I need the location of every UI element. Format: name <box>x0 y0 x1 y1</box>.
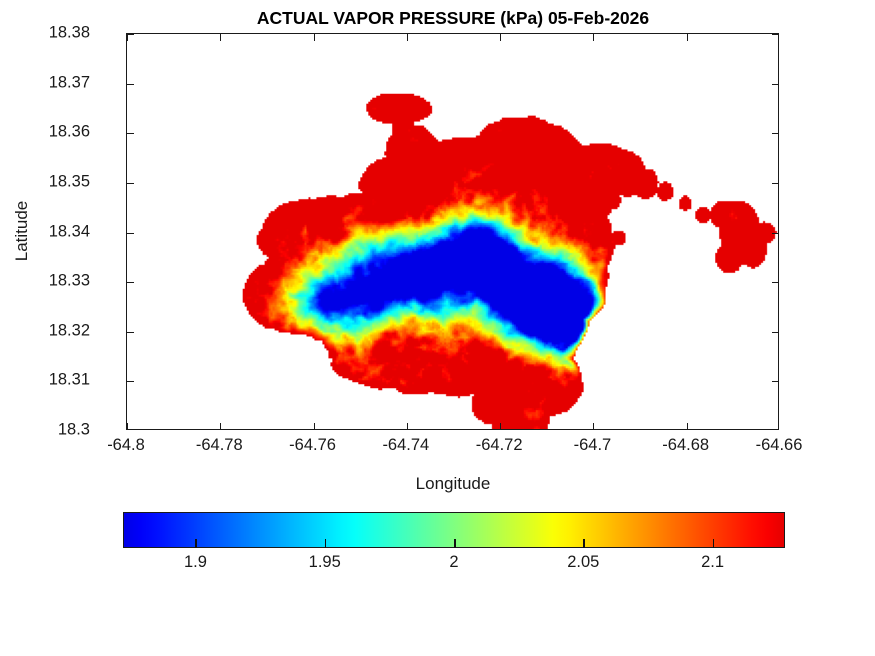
colorbar-tick-mark <box>583 539 585 548</box>
x-tick-mark <box>593 423 594 430</box>
y-tick-label: 18.32 <box>0 321 90 340</box>
y-tick-mark <box>127 183 134 184</box>
vapor-pressure-heatmap <box>127 34 778 429</box>
page-title: ACTUAL VAPOR PRESSURE (kPa) 05-Feb-2026 <box>126 8 780 29</box>
y-tick-mark <box>127 133 134 134</box>
y-tick-label: 18.37 <box>0 73 90 92</box>
colorbar-tick-mark <box>713 539 715 548</box>
colorbar-tick-mark <box>195 539 197 548</box>
y-tick-label: 18.36 <box>0 123 90 142</box>
y-tick-mark-right <box>772 133 779 134</box>
y-tick-mark-right <box>772 332 779 333</box>
y-tick-mark <box>127 233 134 234</box>
x-tick-mark <box>220 423 221 430</box>
y-tick-mark <box>127 282 134 283</box>
x-tick-mark-top <box>314 34 315 41</box>
y-tick-mark <box>127 84 134 85</box>
y-tick-mark-right <box>772 84 779 85</box>
y-tick-label: 18.31 <box>0 371 90 390</box>
map-axes[interactable] <box>126 33 779 430</box>
x-tick-mark-top <box>127 34 128 41</box>
x-tick-mark <box>127 423 128 430</box>
colorbar-tick-label: 1.9 <box>145 553 245 572</box>
x-tick-mark <box>407 423 408 430</box>
x-tick-mark-top <box>220 34 221 41</box>
x-tick-mark <box>687 423 688 430</box>
colorbar-tick-mark <box>454 539 456 548</box>
x-tick-mark-top <box>407 34 408 41</box>
x-tick-mark-top <box>500 34 501 41</box>
y-tick-label: 18.33 <box>0 272 90 291</box>
y-axis-label: Latitude <box>12 201 32 262</box>
figure-canvas: ACTUAL VAPOR PRESSURE (kPa) 05-Feb-2026 … <box>0 0 875 656</box>
y-tick-mark <box>127 332 134 333</box>
y-tick-mark-right <box>772 381 779 382</box>
x-axis-label: Longitude <box>126 474 780 494</box>
colorbar[interactable] <box>123 512 785 548</box>
x-tick-mark <box>314 423 315 430</box>
colorbar-tick-mark <box>325 539 327 548</box>
colorbar-tick-label: 1.95 <box>275 553 375 572</box>
x-tick-mark <box>500 423 501 430</box>
x-tick-mark-top <box>687 34 688 41</box>
y-tick-label: 18.35 <box>0 172 90 191</box>
y-tick-mark <box>127 381 134 382</box>
y-tick-mark-right <box>772 233 779 234</box>
x-tick-label: -64.66 <box>719 436 839 455</box>
y-tick-mark-right <box>772 183 779 184</box>
colorbar-tick-label: 2.05 <box>533 553 633 572</box>
y-tick-label: 18.38 <box>0 24 90 43</box>
y-tick-mark-right <box>772 34 779 35</box>
x-tick-mark-top <box>593 34 594 41</box>
colorbar-tick-label: 2.1 <box>663 553 763 572</box>
y-tick-mark-right <box>772 282 779 283</box>
colorbar-tick-label: 2 <box>404 553 504 572</box>
